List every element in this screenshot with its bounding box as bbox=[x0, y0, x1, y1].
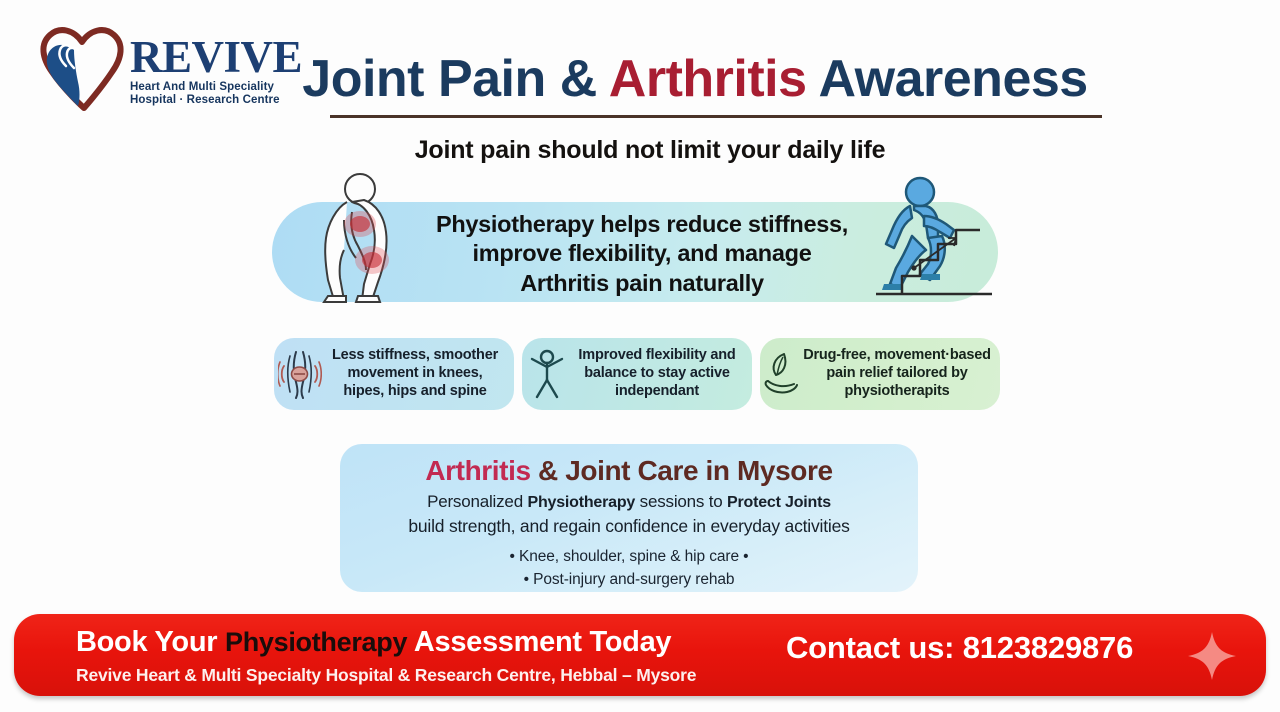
feature-line-1: Less stiffness, smoother bbox=[322, 347, 508, 365]
page-subtitle: Joint pain should not limit your daily l… bbox=[0, 136, 1280, 165]
footer-contact-number[interactable]: Contact us: 8123829876 bbox=[786, 630, 1133, 666]
mysore-body-line-2: build strength, and regain confidence in… bbox=[340, 515, 918, 538]
mysore-body-pre: Personalized bbox=[427, 492, 527, 511]
standing-person-balance-icon bbox=[526, 348, 568, 400]
main-title: Joint Pain & Arthritis Awareness bbox=[0, 52, 1280, 107]
feature-line-1: Improved flexibility and bbox=[568, 347, 746, 365]
mysore-card-heading: Arthritis & Joint Care in Mysore bbox=[340, 456, 918, 487]
mysore-body-line-1: Personalized Physiotherapy sessions to P… bbox=[340, 491, 918, 514]
mysore-bullet-2: • Post-injury and-surgery rehab bbox=[340, 569, 918, 591]
feature-line-2: movement in knees, bbox=[322, 365, 508, 383]
hand-holding-leaf-icon bbox=[764, 348, 800, 400]
footer-cta-banner[interactable]: Book Your Physiotherapy Assessment Today… bbox=[14, 614, 1266, 696]
joint-pain-figure-icon bbox=[300, 172, 408, 307]
mysore-body-strong-2: Protect Joints bbox=[727, 494, 831, 511]
mysore-heading-rest: & Joint Care in Mysore bbox=[531, 455, 833, 486]
arthritis-joint-care-card[interactable]: Arthritis & Joint Care in Mysore Persona… bbox=[340, 444, 918, 592]
hero-line-1: Physiotherapy helps reduce stiffness, bbox=[392, 210, 892, 239]
footer-address: Revive Heart & Multi Specialty Hospital … bbox=[76, 665, 696, 686]
mysore-bullet-list: • Knee, shoulder, spine & hip care • • P… bbox=[340, 546, 918, 591]
feature-card-list: Less stiffness, smoother movement in kne… bbox=[274, 338, 1000, 410]
feature-line-2: balance to stay active bbox=[568, 365, 746, 383]
title-part-1: Joint Pain & bbox=[302, 50, 609, 108]
mysore-bullet-1: • Knee, shoulder, spine & hip care • bbox=[340, 546, 918, 568]
footer-cta-text: Book Your Physiotherapy Assessment Today bbox=[76, 626, 671, 659]
hero-message: Physiotherapy helps reduce stiffness, im… bbox=[392, 210, 892, 298]
mysore-body-strong-1: Physiotherapy bbox=[527, 494, 635, 511]
knee-joint-relief-icon bbox=[278, 348, 322, 400]
title-part-2: Awareness bbox=[807, 50, 1088, 108]
page-title: Joint Pain & Arthritis Awareness bbox=[0, 52, 1280, 107]
feature-card-text: Improved flexibility and balance to stay… bbox=[568, 347, 752, 401]
feature-line-3: physiotherapits bbox=[800, 383, 994, 401]
stair-climbing-figure-icon bbox=[868, 172, 996, 307]
feature-card-drug-free[interactable]: Drug-free, movement·based pain relief ta… bbox=[760, 338, 1000, 410]
footer-cta-pre: Book Your bbox=[76, 626, 225, 658]
footer-cta-dark: Physiotherapy bbox=[225, 627, 407, 657]
poster-canvas: REVIVE Heart And Multi Speciality Hospit… bbox=[0, 0, 1280, 712]
mysore-heading-highlight: Arthritis bbox=[425, 455, 530, 486]
feature-card-text: Less stiffness, smoother movement in kne… bbox=[322, 347, 514, 401]
title-underline-rule bbox=[330, 115, 1102, 118]
footer-cta-post: Assessment Today bbox=[407, 626, 671, 658]
title-highlight: Arthritis bbox=[609, 50, 807, 108]
feature-card-stiffness[interactable]: Less stiffness, smoother movement in kne… bbox=[274, 338, 514, 410]
feature-line-2: pain relief tailored by bbox=[800, 365, 994, 383]
hero-line-3: Arthritis pain naturally bbox=[392, 269, 892, 298]
feature-card-flexibility[interactable]: Improved flexibility and balance to stay… bbox=[522, 338, 752, 410]
sparkle-icon bbox=[1186, 630, 1238, 682]
hero-line-2: improve flexibility, and manage bbox=[392, 239, 892, 268]
feature-card-text: Drug-free, movement·based pain relief ta… bbox=[800, 347, 1000, 401]
mysore-body-mid: sessions to bbox=[635, 492, 727, 511]
feature-line-3: hipes, hips and spine bbox=[322, 383, 508, 401]
feature-line-3: independant bbox=[568, 383, 746, 401]
feature-line-1: Drug-free, movement·based bbox=[800, 347, 994, 365]
